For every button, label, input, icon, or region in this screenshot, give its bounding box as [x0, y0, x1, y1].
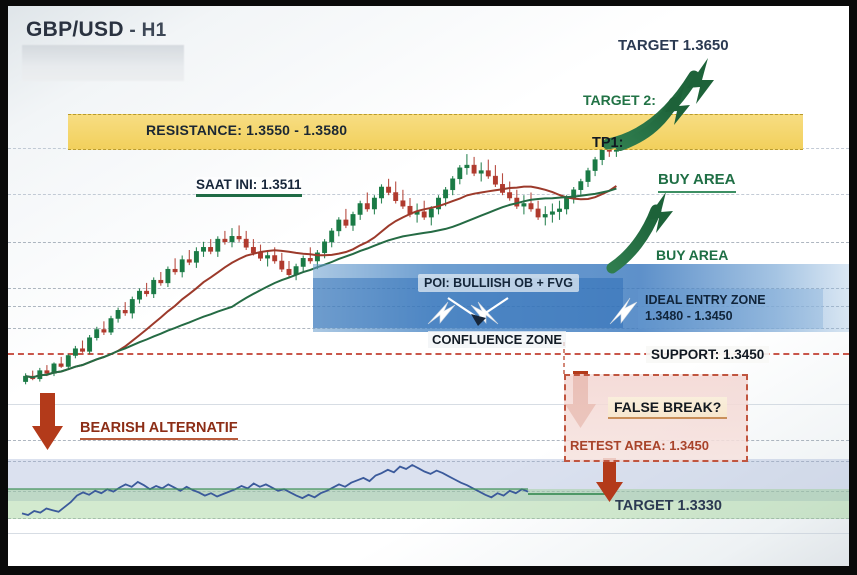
- target-two-label: TARGET 2:: [583, 92, 656, 108]
- target-main-label: TARGET 1.3650: [618, 37, 729, 54]
- buy-area-lower-label: BUY AREA: [656, 247, 728, 263]
- timeframe-label: H1: [142, 20, 167, 41]
- support-label: SUPPORT: 1.3450: [646, 346, 769, 363]
- bearish-target-label: TARGET 1.3330: [615, 498, 722, 514]
- pair-separator: -: [124, 20, 142, 41]
- false-break-label: FALSE BREAK?: [608, 397, 727, 419]
- screenshot-frame: GBP/USD - H1 RESISTANCE: 1.3550 - 1.3580…: [0, 0, 857, 575]
- resistance-band: RESISTANCE: 1.3550 - 1.3580: [68, 114, 803, 150]
- gridline: [8, 194, 849, 195]
- pair-label: GBP/USD: [26, 18, 124, 41]
- ideal-entry-zone-label: IDEAL ENTRY ZONE 1.3480 - 1.3450: [645, 292, 766, 324]
- current-price-label: SAAT INI: 1.3511: [196, 177, 302, 197]
- gridline: [8, 533, 849, 534]
- false-break-question-icon: ?: [713, 399, 722, 415]
- bearish-alternative-label: BEARISH ALTERNATIF: [80, 420, 238, 440]
- entry-zone-title: IDEAL ENTRY ZONE: [645, 292, 766, 308]
- poi-label: POI: BULLIISH OB + FVG: [418, 274, 579, 292]
- bearish-arrow-down: [32, 393, 63, 450]
- indicator-lower-band: [8, 489, 849, 519]
- resistance-label: RESISTANCE: 1.3550 - 1.3580: [146, 122, 347, 138]
- entry-zone-range: 1.3480 - 1.3450: [645, 308, 766, 324]
- tp1-label: TP1:: [592, 135, 623, 151]
- gridline: [8, 242, 849, 243]
- confluence-zone-label: CONFLUENCE ZONE: [428, 331, 566, 348]
- page-title: GBP/USD - H1: [26, 18, 166, 42]
- retest-area-label: RETEST AREA: 1.3450: [570, 438, 709, 453]
- false-break-title: FALSE BREAK: [614, 399, 713, 415]
- buy-area-upper-label: BUY AREA: [658, 171, 736, 193]
- redacted-box: [22, 45, 184, 81]
- chart-sheet: GBP/USD - H1 RESISTANCE: 1.3550 - 1.3580…: [8, 6, 849, 566]
